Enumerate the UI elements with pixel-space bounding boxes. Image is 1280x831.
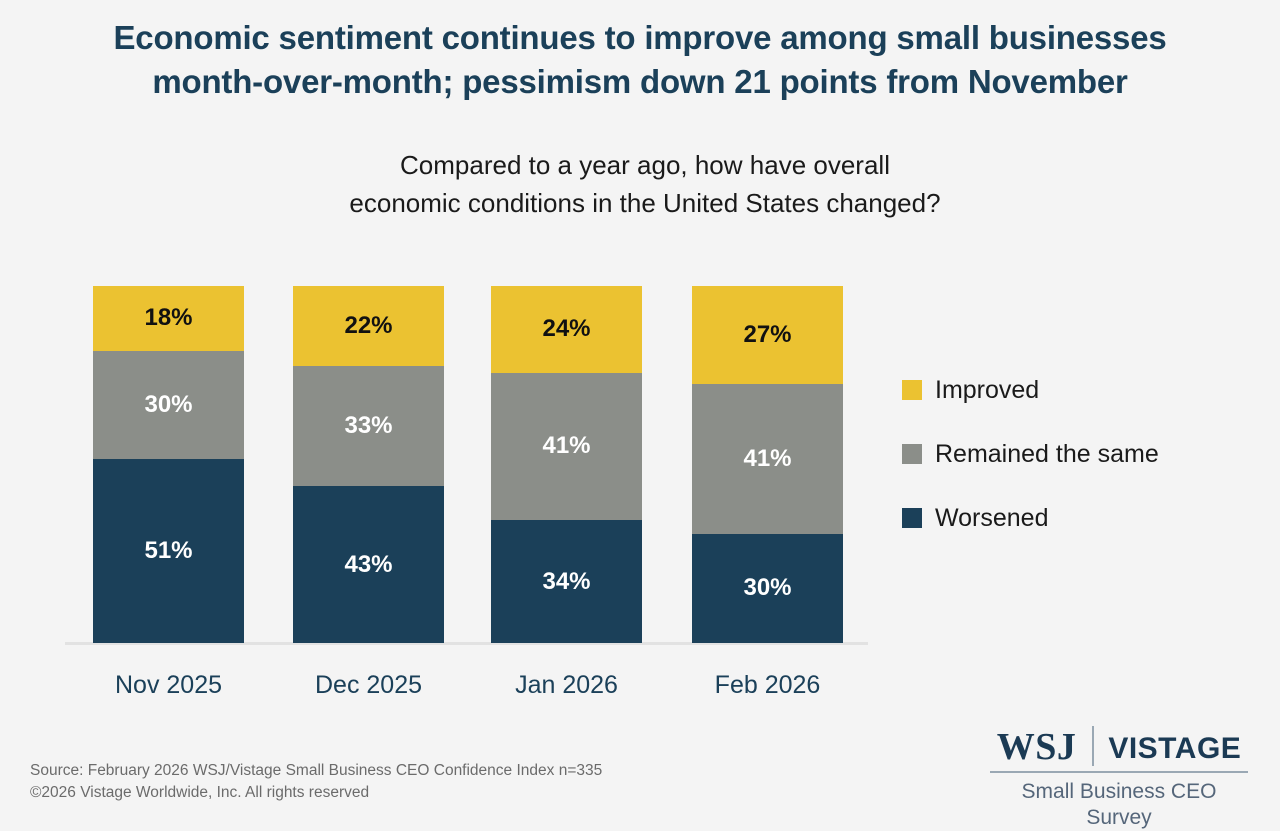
legend-item-improved[interactable]: Improved	[902, 358, 1159, 422]
bar-segment-improved[interactable]: 22%	[293, 286, 444, 366]
bar-segment-improved[interactable]: 24%	[491, 286, 642, 373]
x-axis-labels: Nov 2025 Dec 2025 Jan 2026 Feb 2026	[65, 662, 870, 708]
legend-item-worsened[interactable]: Worsened	[902, 486, 1159, 550]
legend-label-improved: Improved	[935, 378, 1039, 403]
slide-canvas: Economic sentiment continues to improve …	[0, 0, 1280, 818]
logo-tagline: Small Business CEO Survey	[990, 779, 1248, 831]
legend-item-remained-the-same[interactable]: Remained the same	[902, 422, 1159, 486]
x-axis-label-dec-2025: Dec 2025	[293, 662, 444, 708]
bar-segment-improved[interactable]: 18%	[93, 286, 244, 351]
legend-swatch-icon-worsened	[902, 508, 922, 528]
legend-label-remained-the-same: Remained the same	[935, 442, 1159, 467]
bar-segment-worsened[interactable]: 51%	[93, 459, 244, 643]
source-note: Source: February 2026 WSJ/Vistage Small …	[30, 760, 602, 804]
source-note-line-1: Source: February 2026 WSJ/Vistage Small …	[30, 760, 602, 782]
x-axis-label-jan-2026: Jan 2026	[491, 662, 642, 708]
bar-group-nov-2025[interactable]: 18% 30% 51%	[93, 286, 244, 643]
bar-segment-improved[interactable]: 27%	[692, 286, 843, 384]
chart-subtitle-line-2: economic conditions in the United States…	[140, 184, 1150, 222]
bar-segment-worsened[interactable]: 34%	[491, 520, 642, 643]
chart-subtitle: Compared to a year ago, how have overall…	[140, 146, 1150, 222]
stacked-bar-chart: 18% 30% 51% 22% 33% 43% 24% 41% 34% 27% …	[65, 286, 870, 643]
page-title: Economic sentiment continues to improve …	[40, 16, 1240, 104]
logo-rule-divider	[990, 771, 1248, 773]
legend-swatch-icon-remained-the-same	[902, 444, 922, 464]
legend-label-worsened: Worsened	[935, 506, 1049, 531]
bar-segment-worsened[interactable]: 30%	[692, 534, 843, 643]
bar-segment-remained-the-same[interactable]: 30%	[93, 351, 244, 459]
logo-vistage-wordmark: VISTAGE	[1108, 732, 1241, 766]
logo-wsj-wordmark: WSJ	[997, 728, 1077, 766]
wsj-vistage-logo: WSJ VISTAGE Small Business CEO Survey	[990, 722, 1248, 831]
logo-wordmark-row: WSJ VISTAGE	[990, 722, 1248, 766]
x-axis-label-feb-2026: Feb 2026	[692, 662, 843, 708]
bar-segment-remained-the-same[interactable]: 41%	[491, 373, 642, 521]
legend-swatch-icon-improved	[902, 380, 922, 400]
x-axis-label-nov-2025: Nov 2025	[93, 662, 244, 708]
bar-segment-remained-the-same[interactable]: 33%	[293, 366, 444, 486]
bar-segment-remained-the-same[interactable]: 41%	[692, 384, 843, 533]
page-title-line-2: month-over-month; pessimism down 21 poin…	[40, 60, 1240, 104]
bar-segment-worsened[interactable]: 43%	[293, 486, 444, 643]
logo-divider-icon	[1092, 726, 1094, 766]
bar-group-dec-2025[interactable]: 22% 33% 43%	[293, 286, 444, 643]
page-title-line-1: Economic sentiment continues to improve …	[40, 16, 1240, 60]
bar-group-jan-2026[interactable]: 24% 41% 34%	[491, 286, 642, 643]
chart-subtitle-line-1: Compared to a year ago, how have overall	[140, 146, 1150, 184]
source-note-line-2: ©2026 Vistage Worldwide, Inc. All rights…	[30, 782, 602, 804]
bar-group-feb-2026[interactable]: 27% 41% 30%	[692, 286, 843, 643]
chart-legend: Improved Remained the same Worsened	[902, 358, 1159, 550]
